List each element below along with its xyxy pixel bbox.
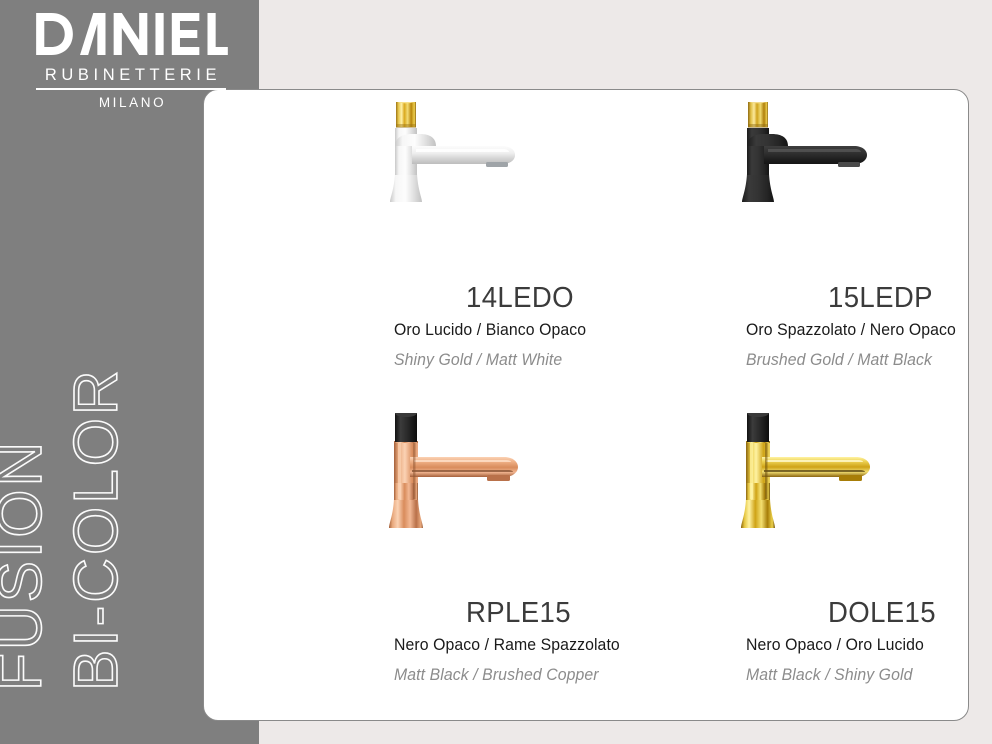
product-desc-en: Matt Black / Shiny Gold [746, 665, 912, 685]
product-image [204, 405, 586, 620]
product-cell[interactable]: DOLE15 Nero Opaco / Oro Lucido Matt Blac… [586, 405, 968, 720]
daniel-wordmark-icon [34, 11, 228, 57]
product-cell[interactable]: 14LEDO Oro Lucido / Bianco Opaco Shiny G… [204, 90, 586, 405]
product-cell[interactable]: RPLE15 Nero Opaco / Rame Spazzolato Matt… [204, 405, 586, 720]
product-code: DOLE15 [828, 597, 936, 630]
catalog-page: RUBINETTERIE MILANO FUSION BI-COLOR [0, 0, 992, 744]
product-code: 15LEDP [828, 282, 933, 315]
product-grid: 14LEDO Oro Lucido / Bianco Opaco Shiny G… [204, 90, 968, 720]
product-desc-en: Brushed Gold / Matt Black [746, 350, 932, 370]
product-desc-it: Oro Lucido / Bianco Opaco [394, 320, 586, 340]
basin-mixer-tall-icon [738, 413, 938, 623]
product-image [586, 405, 968, 620]
logo-divider [36, 88, 226, 90]
product-image [586, 90, 968, 305]
product-cell[interactable]: 15LEDP Oro Spazzolato / Nero Opaco Brush… [586, 90, 968, 405]
brand-category: RUBINETTERIE [36, 66, 226, 85]
brand-logo: RUBINETTERIE MILANO [36, 11, 226, 110]
basin-mixer-tall-icon [386, 413, 586, 623]
product-desc-en: Matt Black / Brushed Copper [394, 665, 599, 685]
product-code: 14LEDO [466, 282, 574, 315]
basin-mixer-icon [738, 102, 938, 302]
brand-name [34, 11, 228, 64]
product-desc-en: Shiny Gold / Matt White [394, 350, 562, 370]
product-code: RPLE15 [466, 597, 571, 630]
product-image [204, 90, 586, 305]
product-desc-it: Nero Opaco / Oro Lucido [746, 635, 924, 655]
product-desc-it: Oro Spazzolato / Nero Opaco [746, 320, 956, 340]
basin-mixer-icon [386, 102, 586, 302]
brand-city: MILANO [36, 95, 226, 110]
product-card: 14LEDO Oro Lucido / Bianco Opaco Shiny G… [203, 89, 969, 721]
